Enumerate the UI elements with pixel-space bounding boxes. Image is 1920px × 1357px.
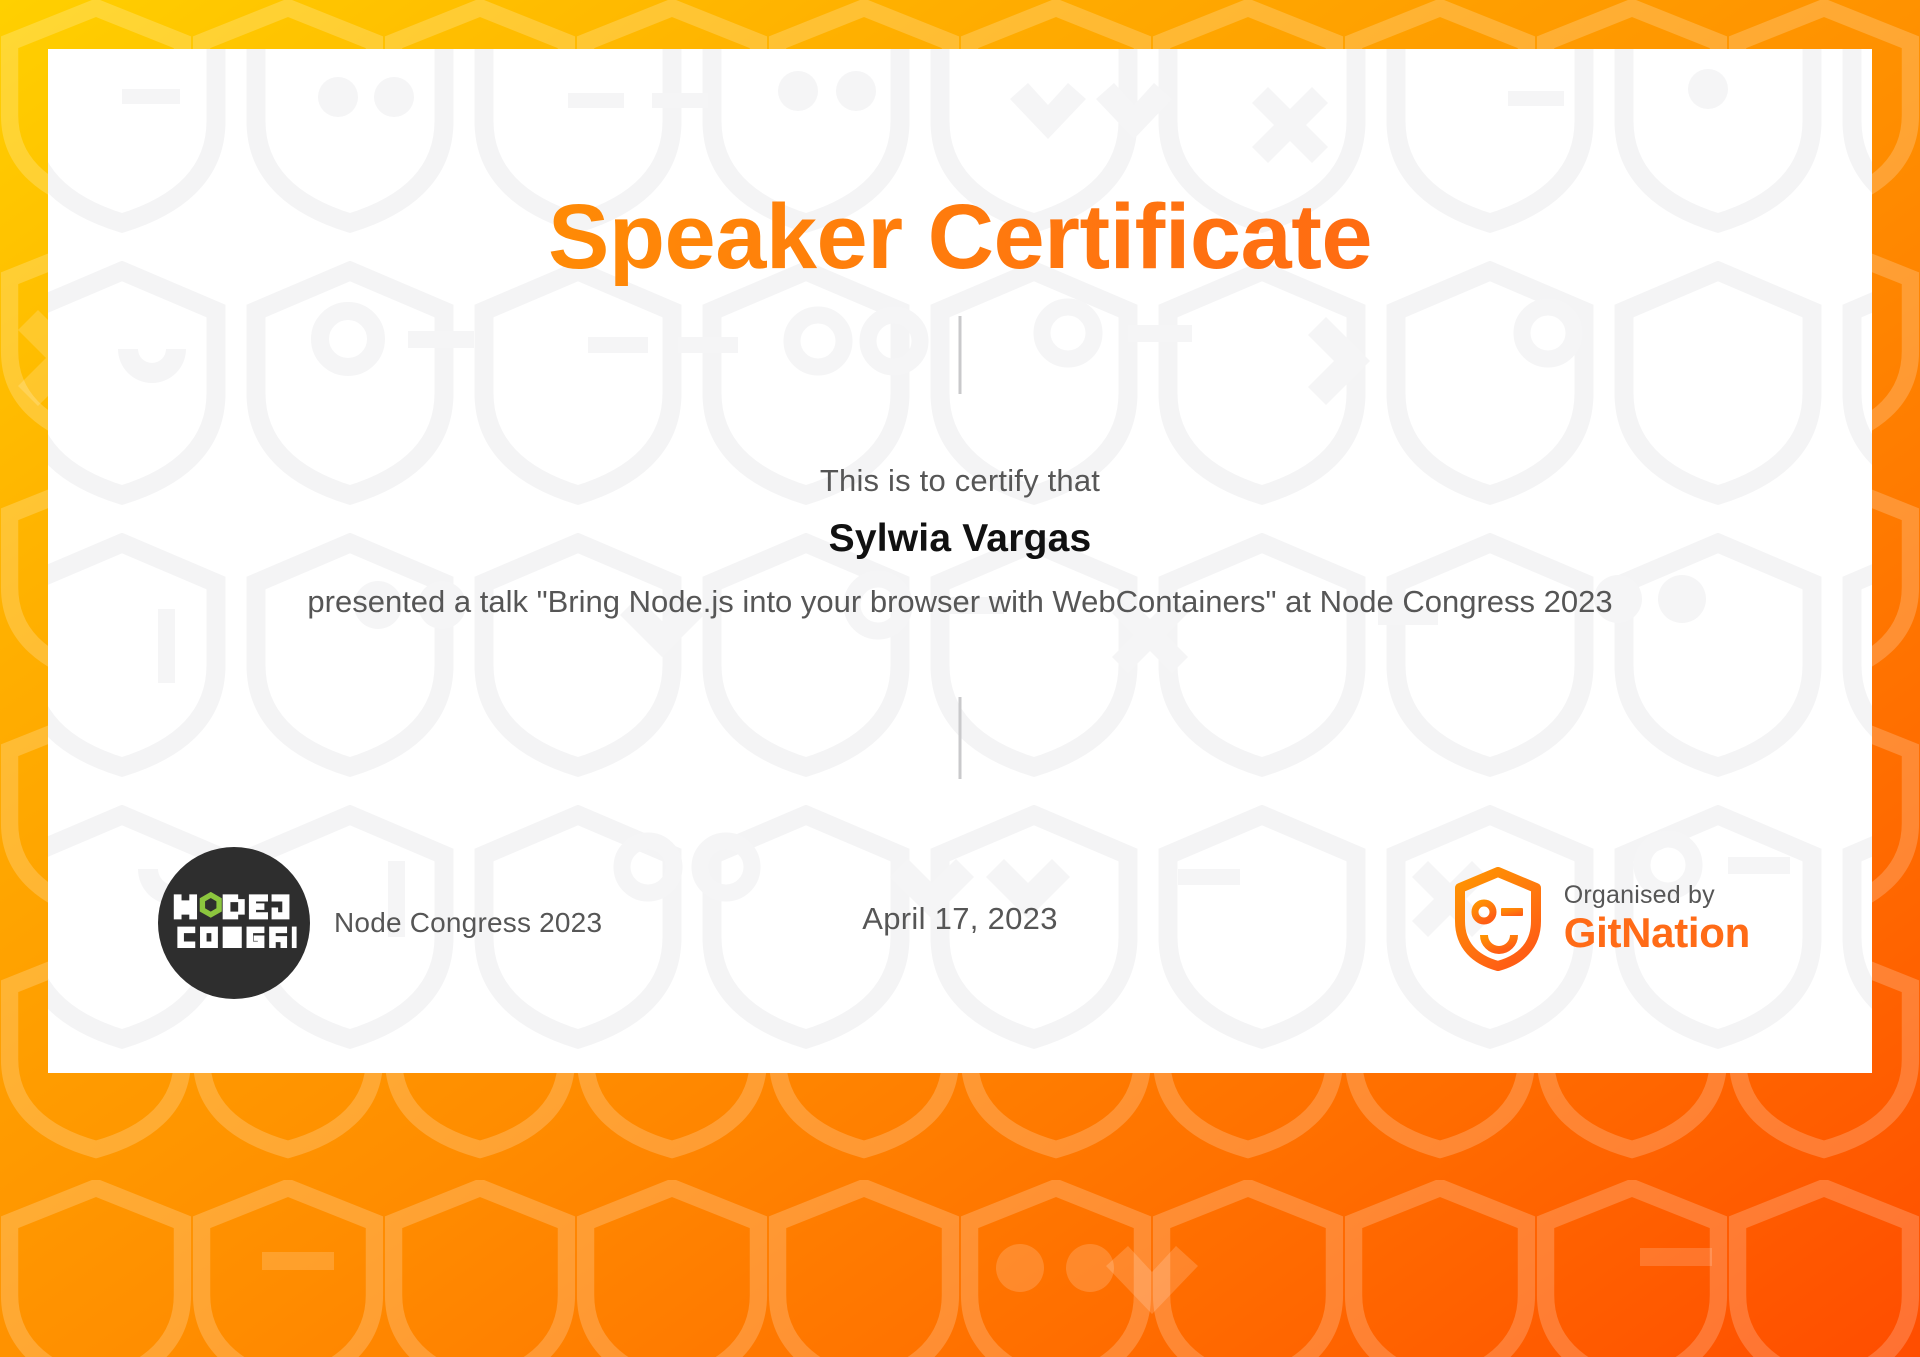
certificate-card: Speaker Certificate This is to certify t…	[48, 49, 1872, 1073]
certificate-title: Speaker Certificate	[48, 189, 1872, 286]
organised-by-label: Organised by	[1564, 881, 1750, 909]
organiser-name: GitNation	[1564, 909, 1750, 956]
certify-statement: This is to certify that	[48, 463, 1872, 499]
recipient-name: Sylwia Vargas	[48, 517, 1872, 561]
talk-description: presented a talk "Bring Node.js into you…	[240, 582, 1680, 623]
speaker-certificate: Speaker Certificate This is to certify t…	[0, 0, 1920, 1357]
gitnation-shield-smiley-icon	[1454, 867, 1542, 971]
organiser-block: Organised by GitNation	[1454, 867, 1750, 971]
divider-top	[959, 316, 962, 394]
divider-bottom	[959, 697, 962, 779]
certificate-footer: Node Congress 2023 April 17, 2023	[48, 839, 1872, 1019]
